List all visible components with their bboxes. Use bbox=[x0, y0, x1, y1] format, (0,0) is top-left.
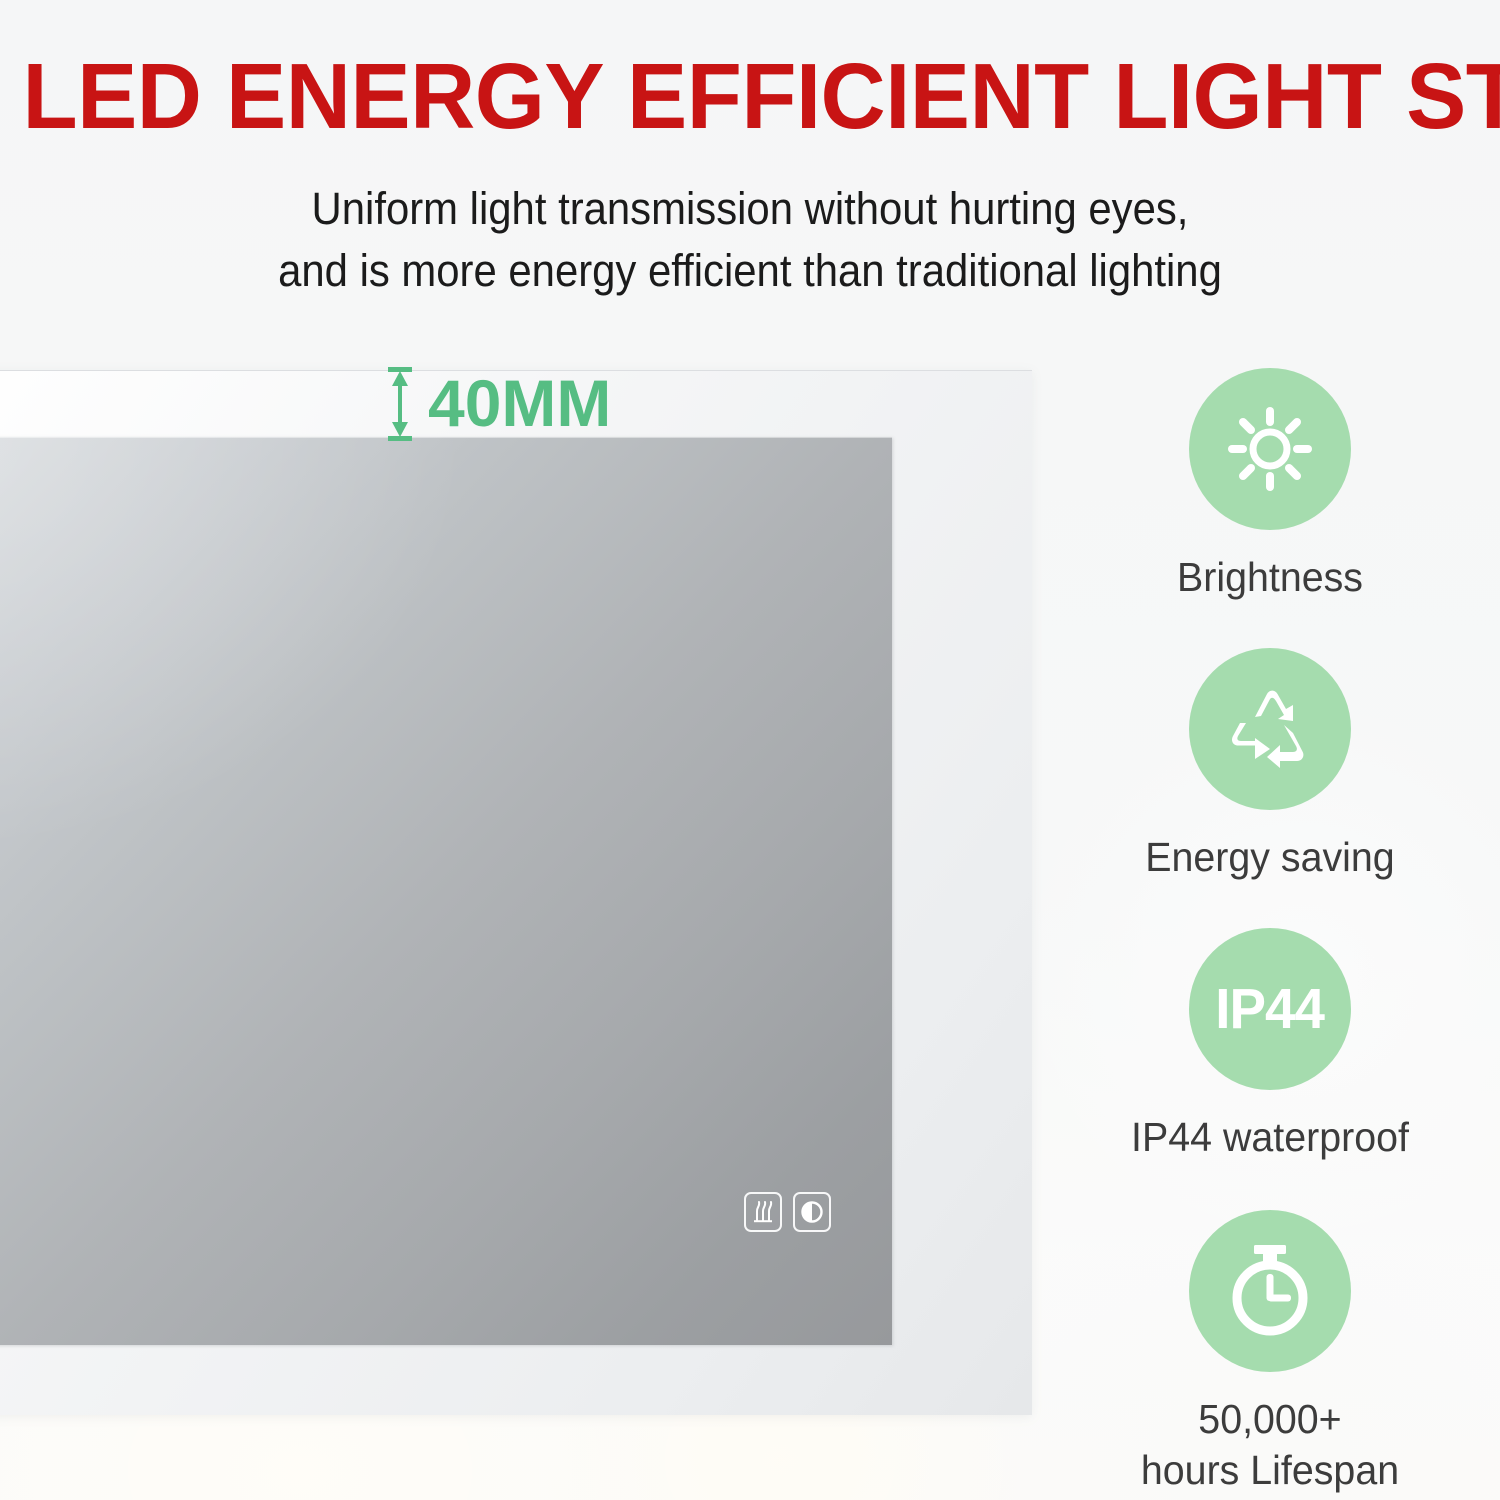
mirror-touch-controls bbox=[744, 1192, 831, 1232]
brightness-button[interactable] bbox=[793, 1192, 831, 1232]
stopwatch-icon bbox=[1222, 1241, 1318, 1341]
mirror-frame bbox=[0, 370, 1032, 1415]
feature-item-brightness: Brightness bbox=[1040, 368, 1500, 603]
brightness-contrast-icon bbox=[799, 1199, 825, 1225]
feature-badge-energy-saving bbox=[1189, 648, 1351, 810]
feature-item-lifespan: 50,000+ hours Lifespan bbox=[1040, 1210, 1500, 1496]
recycle-icon bbox=[1222, 683, 1318, 775]
subtitle-line-1: Uniform light transmission without hurti… bbox=[53, 178, 1448, 240]
vertical-double-arrow-icon bbox=[385, 366, 415, 442]
feature-label-brightness: Brightness bbox=[1049, 552, 1491, 603]
page-subtitle: Uniform light transmission without hurti… bbox=[53, 178, 1448, 302]
defogger-icon bbox=[751, 1199, 775, 1225]
defogger-button[interactable] bbox=[744, 1192, 782, 1232]
feature-label-lifespan: 50,000+ hours Lifespan bbox=[1049, 1394, 1491, 1496]
ip44-text-icon: IP44 bbox=[1216, 981, 1325, 1038]
page-title: LED ENERGY EFFICIENT LIGHT STRIP bbox=[23, 48, 1478, 144]
infographic-canvas: LED ENERGY EFFICIENT LIGHT STRIP Uniform… bbox=[0, 0, 1500, 1500]
feature-label-energy-saving: Energy saving bbox=[1049, 832, 1491, 883]
subtitle-line-2: and is more energy efficient than tradit… bbox=[53, 240, 1448, 302]
feature-badge-brightness bbox=[1189, 368, 1351, 530]
feature-label-ip44: IP44 waterproof bbox=[1049, 1112, 1491, 1163]
feature-badge-lifespan bbox=[1189, 1210, 1351, 1372]
frame-thickness-measure bbox=[385, 366, 415, 442]
sun-brightness-icon bbox=[1224, 403, 1316, 495]
feature-item-ip44: IP44 IP44 waterproof bbox=[1040, 928, 1500, 1163]
feature-badge-ip44: IP44 bbox=[1189, 928, 1351, 1090]
frame-thickness-label: 40MM bbox=[428, 370, 611, 436]
feature-item-energy-saving: Energy saving bbox=[1040, 648, 1500, 883]
